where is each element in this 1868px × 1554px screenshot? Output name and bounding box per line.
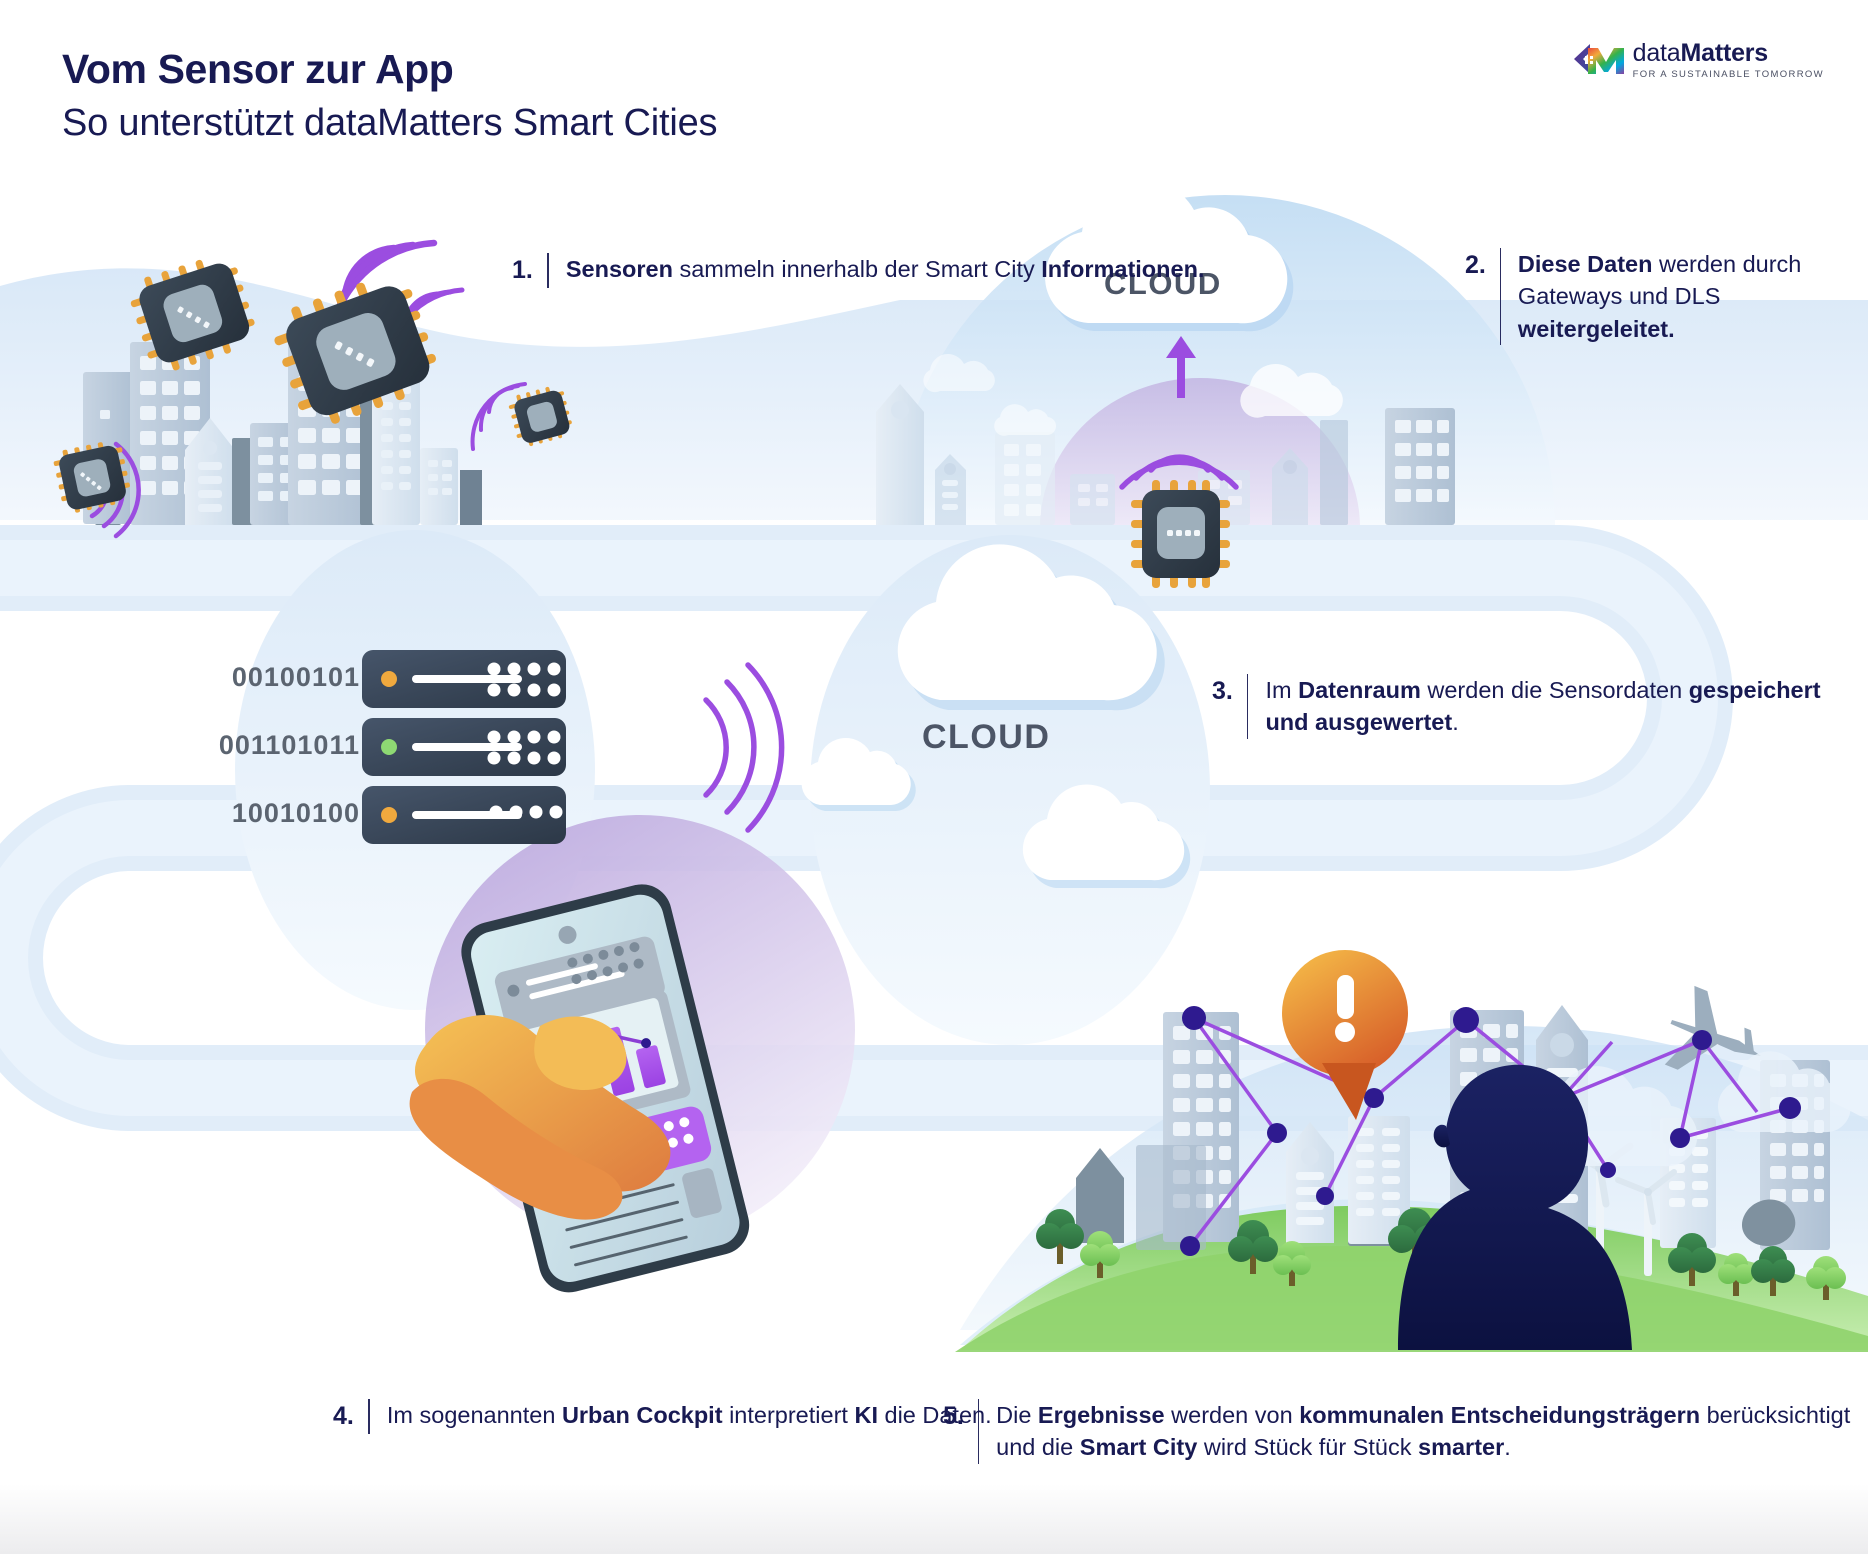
logo-wordmark: dataMatters FOR A SUSTAINABLE TOMORROW: [1633, 41, 1824, 80]
step-number: 4.: [333, 1399, 368, 1434]
server-unit-3: [362, 786, 566, 844]
step-divider: [547, 253, 549, 288]
step-callout-2: 2. Diese Daten werden durch Gateways und…: [1465, 248, 1868, 345]
arrow-up-purple: [1166, 336, 1196, 398]
page-title: Vom Sensor zur App: [62, 46, 717, 93]
step-text: Im sogenannten Urban Cockpit interpretie…: [387, 1399, 992, 1431]
scene-smart-city-network: [955, 950, 1868, 1352]
step-number: 1.: [512, 253, 547, 288]
alert-bubble: [1282, 950, 1408, 1120]
step-divider: [1500, 248, 1501, 345]
step-number: 3.: [1212, 674, 1247, 709]
step-divider: [978, 1399, 979, 1464]
scene-datacenter: [362, 544, 1190, 888]
brand-logo[interactable]: dataMatters FOR A SUSTAINABLE TOMORROW: [1568, 38, 1824, 82]
server-status-dot-orange: [381, 671, 397, 687]
step-text: Sensoren sammeln innerhalb der Smart Cit…: [566, 253, 1205, 285]
logo-tagline: FOR A SUSTAINABLE TOMORROW: [1633, 70, 1824, 80]
server-status-dot-green: [381, 739, 397, 755]
gateway-chip: [1131, 480, 1230, 588]
logo-mark-icon: [1568, 38, 1624, 82]
step-text: Im Datenraum werden die Sensordaten gesp…: [1265, 674, 1868, 739]
page-header: Vom Sensor zur App So unterstützt dataMa…: [62, 46, 717, 147]
server-unit-1: [362, 650, 566, 708]
step-callout-1: 1. Sensoren sammeln innerhalb der Smart …: [512, 253, 1204, 288]
infographic-canvas: Vom Sensor zur App So unterstützt dataMa…: [0, 0, 1868, 1554]
wifi-arc-datacenter: [706, 665, 782, 830]
cloud-small-decor: [923, 354, 1342, 436]
illustration-layer: [0, 0, 1868, 1554]
step-divider: [368, 1399, 370, 1434]
scene-sensor-city: [51, 243, 575, 536]
cloud-small-mid-left: [802, 738, 916, 811]
sensor-chip-tiny: [506, 383, 575, 449]
step-number: 5.: [943, 1399, 978, 1434]
binary-label-2: 001101011: [210, 730, 360, 761]
binary-label-1: 00100101: [210, 662, 360, 693]
logo-name: dataMatters: [1633, 41, 1824, 66]
server-unit-2: [362, 718, 566, 776]
step-callout-3: 3. Im Datenraum werden die Sensordaten g…: [1212, 674, 1868, 739]
step-callout-4: 4. Im sogenannten Urban Cockpit interpre…: [333, 1399, 992, 1434]
step-text: Diese Daten werden durch Gateways und DL…: [1518, 248, 1868, 345]
binary-label-3: 10010100: [210, 798, 360, 829]
step-callout-5: 5. Die Ergebnisse werden von kommunalen …: [943, 1399, 1868, 1464]
cloud-shape-mid: [898, 544, 1165, 710]
page-subtitle: So unterstützt dataMatters Smart Cities: [62, 101, 717, 147]
server-status-dot-orange-2: [381, 807, 397, 823]
scene-gateway-cloud: [876, 179, 1455, 588]
cloud-small-mid-right: [1023, 784, 1190, 888]
dome-tower-left: [876, 384, 924, 525]
step-number: 2.: [1465, 248, 1500, 283]
step-text: Die Ergebnisse werden von kommunalen Ent…: [996, 1399, 1868, 1464]
cloud-label-mid: CLOUD: [922, 718, 1050, 757]
step-divider: [1247, 674, 1249, 739]
